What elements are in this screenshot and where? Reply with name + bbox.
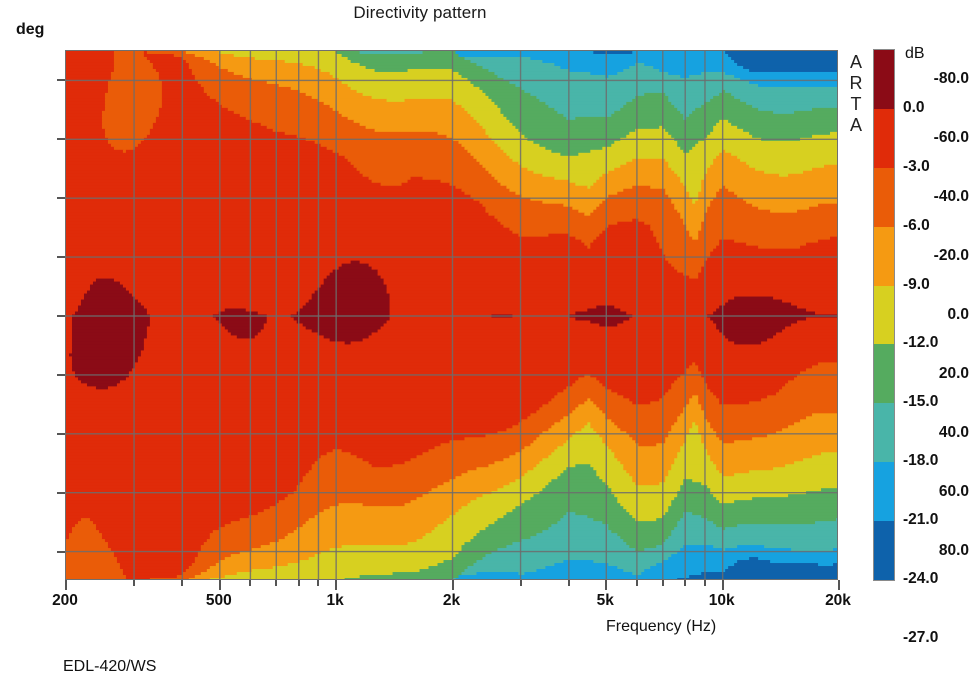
directivity-heatmap-plot bbox=[65, 50, 838, 580]
colorbar-tick-label: -3.0 bbox=[903, 158, 930, 176]
x-tick-mark bbox=[335, 580, 337, 590]
x-tick-mark-minor bbox=[317, 580, 319, 586]
y-tick-label: -80.0 bbox=[913, 70, 969, 88]
x-tick-label: 1k bbox=[327, 592, 344, 610]
colorbar-tick-label: -27.0 bbox=[903, 629, 938, 647]
colorbar-band bbox=[874, 286, 894, 345]
x-tick-mark-minor bbox=[275, 580, 277, 586]
heatmap-canvas bbox=[66, 51, 838, 580]
colorbar-tick-label: -9.0 bbox=[903, 276, 930, 294]
watermark-letter: A bbox=[845, 52, 867, 73]
x-tick-mark-minor bbox=[298, 580, 300, 586]
y-tick-mark bbox=[57, 433, 65, 435]
x-tick-label: 500 bbox=[206, 592, 232, 610]
y-tick-label: -60.0 bbox=[913, 129, 969, 147]
colorbar-band bbox=[874, 344, 894, 403]
x-tick-mark-minor bbox=[249, 580, 251, 586]
colorbar-band bbox=[874, 227, 894, 286]
watermark-letter: A bbox=[845, 115, 867, 136]
colorbar-unit-label: dB bbox=[905, 45, 925, 63]
y-tick-label: 20.0 bbox=[913, 365, 969, 383]
x-tick-mark-minor bbox=[636, 580, 638, 586]
colorbar-legend bbox=[873, 49, 895, 581]
y-tick-label: -40.0 bbox=[913, 188, 969, 206]
x-tick-mark-minor bbox=[662, 580, 664, 586]
colorbar-tick-label: -15.0 bbox=[903, 393, 938, 411]
y-tick-label: 40.0 bbox=[913, 424, 969, 442]
x-tick-mark-minor bbox=[181, 580, 183, 586]
x-tick-mark-minor bbox=[133, 580, 135, 586]
y-tick-mark bbox=[57, 551, 65, 553]
x-tick-mark-minor bbox=[704, 580, 706, 586]
colorbar-tick-label: -21.0 bbox=[903, 511, 938, 529]
x-tick-label: 20k bbox=[825, 592, 851, 610]
y-tick-label: 80.0 bbox=[913, 542, 969, 560]
colorbar-band bbox=[874, 403, 894, 462]
x-tick-mark-minor bbox=[568, 580, 570, 586]
colorbar-tick-label: -12.0 bbox=[903, 334, 938, 352]
watermark-letter: R bbox=[845, 73, 867, 94]
x-tick-label: 2k bbox=[443, 592, 460, 610]
watermark-letter: T bbox=[845, 94, 867, 115]
y-tick-mark bbox=[57, 256, 65, 258]
x-tick-mark-minor bbox=[520, 580, 522, 586]
y-tick-mark bbox=[57, 374, 65, 376]
device-model-label: EDL-420/WS bbox=[63, 658, 156, 676]
colorbar-tick-label: -18.0 bbox=[903, 452, 938, 470]
y-tick-mark bbox=[57, 138, 65, 140]
x-tick-mark bbox=[65, 580, 67, 590]
x-tick-mark bbox=[722, 580, 724, 590]
y-tick-mark bbox=[57, 197, 65, 199]
x-tick-mark bbox=[219, 580, 221, 590]
y-tick-label: -20.0 bbox=[913, 247, 969, 265]
colorbar-band bbox=[874, 462, 894, 521]
x-tick-label: 200 bbox=[52, 592, 78, 610]
y-tick-label: 60.0 bbox=[913, 483, 969, 501]
y-tick-mark bbox=[57, 79, 65, 81]
y-tick-label: 0.0 bbox=[913, 306, 969, 324]
x-tick-label: 10k bbox=[709, 592, 735, 610]
colorbar-band bbox=[874, 521, 894, 580]
colorbar-band bbox=[874, 50, 894, 109]
colorbar-band bbox=[874, 168, 894, 227]
x-axis-title: Frequency (Hz) bbox=[606, 618, 716, 636]
x-tick-mark bbox=[605, 580, 607, 590]
y-tick-mark bbox=[57, 315, 65, 317]
x-tick-mark-minor bbox=[684, 580, 686, 586]
page-title: Directivity pattern bbox=[0, 3, 840, 23]
colorbar-band bbox=[874, 109, 894, 168]
colorbar-tick-label: -6.0 bbox=[903, 217, 930, 235]
x-tick-label: 5k bbox=[597, 592, 614, 610]
colorbar-tick-label: 0.0 bbox=[903, 99, 925, 117]
arta-watermark: ARTA bbox=[845, 52, 867, 136]
x-tick-mark bbox=[838, 580, 840, 590]
x-tick-mark bbox=[452, 580, 454, 590]
y-tick-mark bbox=[57, 492, 65, 494]
colorbar-tick-label: -24.0 bbox=[903, 570, 938, 588]
y-axis-unit-label: deg bbox=[16, 21, 44, 39]
